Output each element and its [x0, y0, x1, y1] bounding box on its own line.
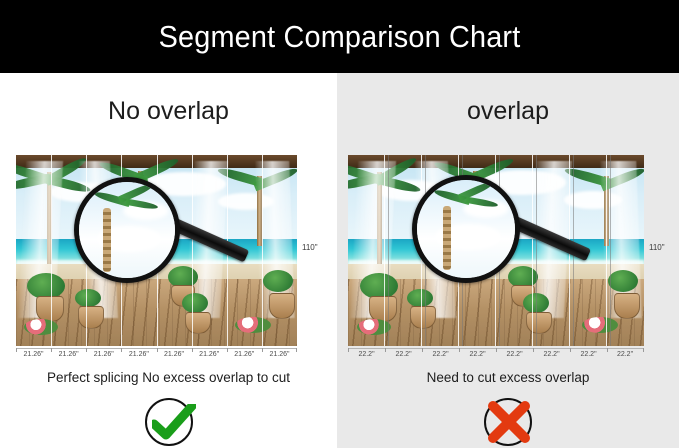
width-label: 21.26" — [164, 351, 184, 358]
width-label: 22.2" — [358, 351, 374, 358]
mural-figure-no-overlap — [16, 155, 297, 346]
mural-image-no-overlap — [16, 155, 297, 346]
panel-overlap: overlap — [337, 73, 679, 448]
width-label: 22.2" — [395, 351, 411, 358]
caption-no-overlap: Perfect splicing No excess overlap to cu… — [0, 370, 337, 385]
height-label-no-overlap: 110" — [302, 243, 318, 252]
width-label: 21.26" — [94, 351, 114, 358]
comparison-panels: No overlap — [0, 73, 679, 448]
width-label: 22.2" — [543, 351, 559, 358]
check-mark-icon — [152, 404, 196, 442]
magnifier-lens — [412, 175, 520, 283]
mural-figure-overlap — [348, 155, 644, 346]
magnifier-lens — [74, 177, 180, 283]
page-title: Segment Comparison Chart — [159, 19, 521, 55]
cross-mark — [337, 398, 679, 446]
width-label: 22.2" — [617, 351, 633, 358]
check-mark-circle — [145, 398, 193, 446]
title-banner: Segment Comparison Chart — [0, 0, 679, 73]
width-label: 21.26" — [269, 351, 289, 358]
cross-mark-icon — [484, 397, 534, 447]
screenshot-root: Segment Comparison Chart No overlap — [0, 0, 679, 448]
width-label: 21.26" — [199, 351, 219, 358]
panel-no-overlap: No overlap — [0, 73, 337, 448]
width-label: 21.26" — [129, 351, 149, 358]
width-label: 21.26" — [59, 351, 79, 358]
panel-heading-no-overlap: No overlap — [0, 97, 337, 126]
cross-mark-circle — [484, 398, 532, 446]
caption-overlap: Need to cut excess overlap — [337, 370, 679, 385]
width-label: 22.2" — [506, 351, 522, 358]
width-label: 21.26" — [234, 351, 254, 358]
panel-heading-overlap: overlap — [337, 97, 679, 126]
mural-image-overlap — [348, 155, 644, 346]
check-mark — [0, 398, 337, 446]
width-label: 22.2" — [469, 351, 485, 358]
width-label: 22.2" — [580, 351, 596, 358]
height-label-overlap: 110" — [649, 243, 665, 252]
width-label: 21.26" — [23, 351, 43, 358]
width-label: 22.2" — [432, 351, 448, 358]
